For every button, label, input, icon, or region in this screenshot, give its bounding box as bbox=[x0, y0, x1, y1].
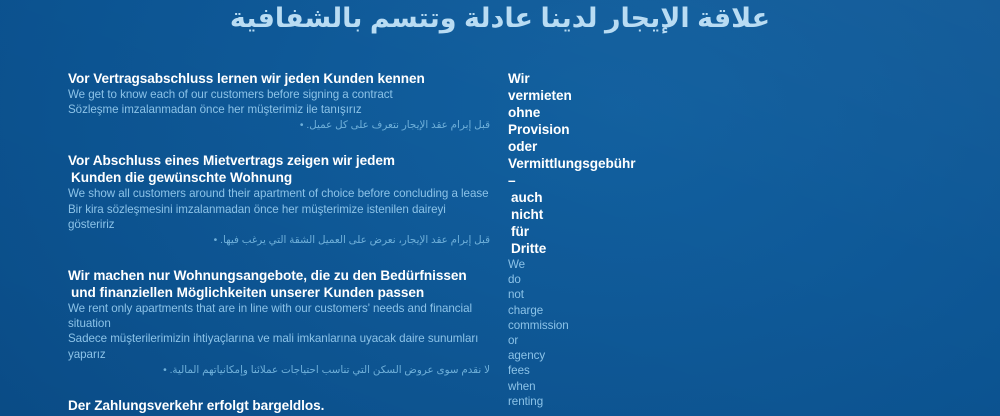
bullet-text-de: Wir vermieten ohne Provision oder Vermit… bbox=[508, 71, 636, 188]
de-line: auch nicht für Dritte bbox=[508, 189, 511, 257]
text-de: auch nicht für Dritte bbox=[511, 190, 546, 256]
page-title-arabic: علاقة الإيجار لدينا عادلة وتتسم بالشفافي… bbox=[0, 1, 1000, 35]
right-column: Wir vermieten ohne Provision oder Vermit… bbox=[0, 70, 522, 416]
slide-canvas: Kiralamamız dürüst ve şeffaftır علاقة ال… bbox=[0, 0, 1000, 416]
content-columns: Vor Vertragsabschluss lernen wir jeden K… bbox=[0, 70, 1000, 416]
slide-header: Kiralamamız dürüst ve şeffaftır علاقة ال… bbox=[0, 0, 1000, 35]
bullet-text-en: We do not charge commission or agency fe… bbox=[508, 258, 569, 416]
